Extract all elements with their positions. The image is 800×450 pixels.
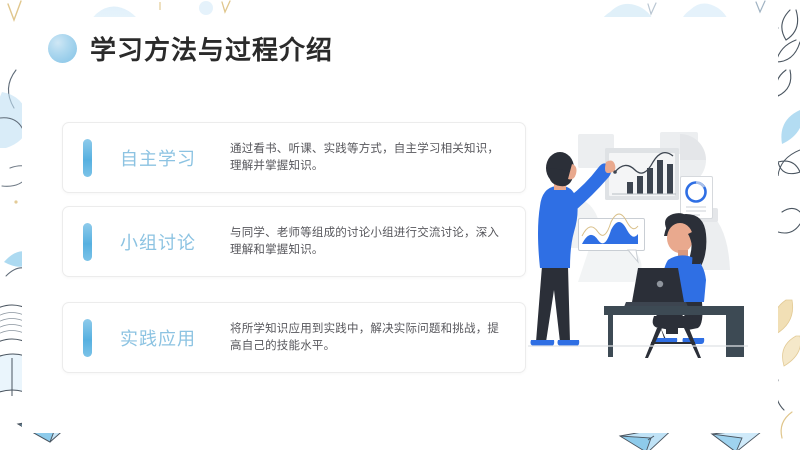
list-item-heading: 小组讨论 xyxy=(120,229,224,255)
leaf-sprig-icon xyxy=(775,208,800,233)
leaf-sprig-icon xyxy=(776,380,792,438)
list-item-heading: 实践应用 xyxy=(120,325,224,351)
blue-pill-bar-icon xyxy=(83,319,92,357)
check-mark-icon xyxy=(8,1,21,20)
stool xyxy=(645,316,701,358)
donut-chart-card xyxy=(681,177,713,219)
list-item-description: 通过看书、听课、实践等方式，自主学习相关知识，理解并掌握知识。 xyxy=(230,141,509,175)
list-item[interactable]: 实践应用 将所学知识应用到实践中，解决实际问题和挑战，提高自己的技能水平。 xyxy=(62,302,526,373)
leaf-sprig-icon xyxy=(776,10,800,96)
check-mark-icon xyxy=(648,3,656,14)
illustration-two-people-presenting-data-charts xyxy=(520,120,770,365)
blue-pill-bar-icon xyxy=(83,223,92,261)
check-mark-icon xyxy=(222,1,230,12)
page-title: 学习方法与过程介绍 xyxy=(90,30,333,67)
dot-blob-icon xyxy=(199,1,213,15)
check-mark-icon xyxy=(756,1,765,12)
list-item-description: 与同学、老师等组成的讨论小组进行交流讨论，深入理解和掌握知识。 xyxy=(230,225,509,259)
slide-header: 学习方法与过程介绍 xyxy=(48,28,333,68)
bar-and-line-chart-board xyxy=(605,148,679,200)
slide-root: 学习方法与过程介绍 自主学习 通过看书、听课、实践等方式，自主学习相关知识，理解… xyxy=(0,0,800,450)
list-item-description: 将所学知识应用到实践中，解决实际问题和挑战，提高自己的技能水平。 xyxy=(230,321,509,355)
gradient-circle-bullet-icon xyxy=(48,34,77,63)
list-item[interactable]: 小组讨论 与同学、老师等组成的讨论小组进行交流讨论，深入理解和掌握知识。 xyxy=(62,206,526,277)
blue-pill-bar-icon xyxy=(83,139,92,177)
list-item-heading: 自主学习 xyxy=(120,145,224,171)
list-item[interactable]: 自主学习 通过看书、听课、实践等方式，自主学习相关知识，理解并掌握知识。 xyxy=(62,122,526,193)
